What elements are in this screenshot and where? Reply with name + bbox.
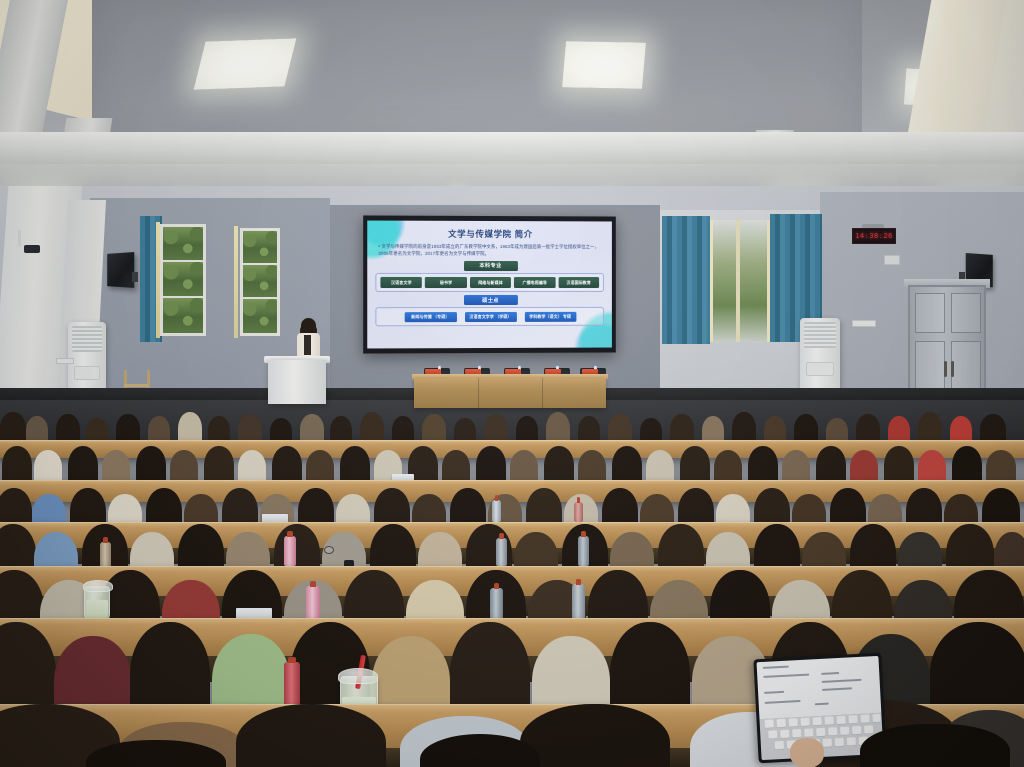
window-glass [163, 298, 203, 333]
ceiling-beam-horizontal [0, 164, 1024, 186]
slide-bullet-text: • 文学与传媒学院的前身是1953年成立的广东教学院中文系，1963年成为建国后… [375, 244, 604, 258]
speaker-mount [132, 272, 138, 282]
ceiling-beam-horizontal [0, 132, 1024, 164]
presentation-slide: 文学与传媒学院 简介 • 文学与传媒学院的前身是1953年成立的广东教学院中文系… [367, 221, 612, 349]
curtain-right-1 [662, 216, 710, 344]
undergrad-major-chip: 网络与新媒体 [470, 277, 511, 287]
slide-section-master: 硕士点 [463, 295, 517, 305]
undergrad-major-chip: 汉语言文学 [380, 277, 422, 287]
window-glass [243, 265, 277, 297]
undergrad-major-chip: 广播电视编导 [514, 277, 555, 287]
camera-mount [18, 230, 21, 246]
eyeglasses [324, 546, 334, 554]
wall-plate [56, 358, 74, 364]
water-bottle [574, 502, 583, 522]
podium [268, 360, 326, 404]
presenter-top [304, 335, 311, 355]
name-card [582, 369, 598, 374]
water-bottle [572, 584, 585, 622]
window-trim [156, 222, 160, 338]
window-glass [243, 231, 277, 263]
wall-plate [852, 320, 876, 327]
window-left-1 [160, 224, 206, 336]
ac-control-panel[interactable] [74, 366, 100, 380]
name-card [425, 369, 441, 374]
ac-grill [804, 322, 836, 348]
ceiling-light-panel [562, 41, 646, 88]
wall-speaker-small [884, 255, 900, 265]
water-bottle [284, 536, 296, 566]
window-trim [234, 226, 238, 338]
slide-section-undergrad: 本科专业 [463, 261, 517, 271]
ac-control-panel[interactable] [806, 362, 834, 376]
window-glass [163, 227, 203, 260]
window-mullion [736, 220, 740, 342]
water-bottle [100, 542, 111, 568]
water-bottle [578, 536, 589, 566]
ceiling [0, 0, 1024, 205]
water-bottle [490, 588, 503, 622]
master-program-chip: 学科教学（语文） 专硕 [524, 311, 576, 321]
ac-grill [72, 326, 102, 352]
window-left-2 [240, 228, 280, 336]
security-camera-icon [24, 245, 40, 253]
name-card [505, 369, 521, 374]
window-glass [243, 299, 277, 333]
name-card [545, 369, 561, 374]
lecture-hall-photo: 14:38:26 文学与传媒学院 简介 • 文学与传媒学院的前身是1953年成立… [0, 0, 1024, 767]
cup-lid [338, 668, 378, 684]
slide-title: 文学与传媒学院 简介 [375, 228, 604, 241]
master-program-chip: 新闻与传播 （专硕） [404, 312, 456, 323]
water-bottle [492, 500, 501, 522]
window-right [710, 220, 770, 342]
audience-seating [0, 404, 1024, 767]
led-clock-text: 14:38:26 [855, 232, 893, 240]
undergrad-major-chip: 秘书学 [425, 277, 467, 287]
undergrad-major-chip: 汉语国际教育 [558, 277, 599, 287]
water-bottle [284, 662, 300, 706]
wall-speaker-left [107, 252, 134, 288]
window-glass [163, 262, 203, 295]
hand [790, 738, 824, 767]
projection-screen: 文学与传媒学院 简介 • 文学与传媒学院的前身是1953年成立的广东教学院中文系… [363, 215, 616, 353]
name-card [465, 369, 481, 374]
presenter-hair-top [301, 318, 316, 333]
master-program-row: 新闻与传播 （专硕） 汉语言文字学 （学硕） 学科教学（语文） 专硕 [375, 307, 604, 327]
cup-lid [83, 580, 113, 592]
audience-person-foreground [860, 724, 1010, 767]
ceiling-light-panel [194, 38, 297, 89]
led-clock-sign: 14:38:26 [852, 228, 896, 244]
master-program-chip: 汉语言文字学 （学硕） [464, 312, 516, 322]
undergrad-major-row: 汉语言文学 秘书学 网络与新媒体 广播电视编导 汉语国际教育 [375, 273, 604, 293]
water-bottle [496, 538, 507, 566]
